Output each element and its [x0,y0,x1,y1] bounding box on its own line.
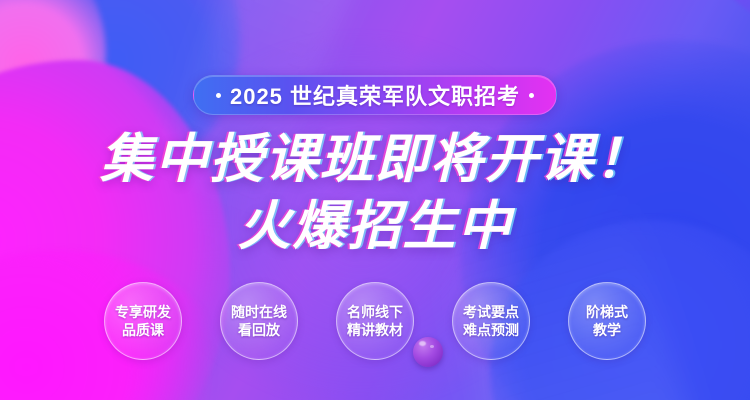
headline-secondary: 火爆招生中 [238,200,513,253]
promo-banner: 2025 世纪真荣军队文职招考 集中授课班即将开课！ 火爆招生中 专享研发 品质… [0,0,750,400]
feature-badge-5[interactable]: 阶梯式 教学 [568,282,646,360]
campaign-badge-label: 2025 世纪真荣军队文职招考 [230,79,520,111]
campaign-badge: 2025 世纪真荣军队文职招考 [193,75,557,115]
feature-badge-3-line2: 精讲教材 [347,321,403,339]
feature-badge-5-line1: 阶梯式 [586,303,628,321]
feature-badge-1-line1: 专享研发 [115,303,171,321]
feature-badge-3-line1: 名师线下 [347,303,403,321]
feature-badge-4[interactable]: 考试要点 难点预测 [452,282,530,360]
feature-badge-1[interactable]: 专享研发 品质课 [104,282,182,360]
feature-badge-2[interactable]: 随时在线 看回放 [220,282,298,360]
headline-primary: 集中授课班即将开课！ [100,133,650,186]
feature-badge-2-line1: 随时在线 [231,303,287,321]
feature-badge-row: 专享研发 品质课 随时在线 看回放 名师线下 精讲教材 考试要点 难点预测 阶梯… [0,282,750,360]
feature-badge-1-line2: 品质课 [122,321,164,339]
feature-badge-4-line1: 考试要点 [463,303,519,321]
feature-badge-2-line2: 看回放 [238,321,280,339]
feature-badge-3[interactable]: 名师线下 精讲教材 [336,282,414,360]
feature-badge-4-line2: 难点预测 [463,321,519,339]
feature-badge-5-line2: 教学 [593,321,621,339]
bullet-dot-left-icon [216,93,221,98]
bullet-dot-right-icon [529,93,534,98]
